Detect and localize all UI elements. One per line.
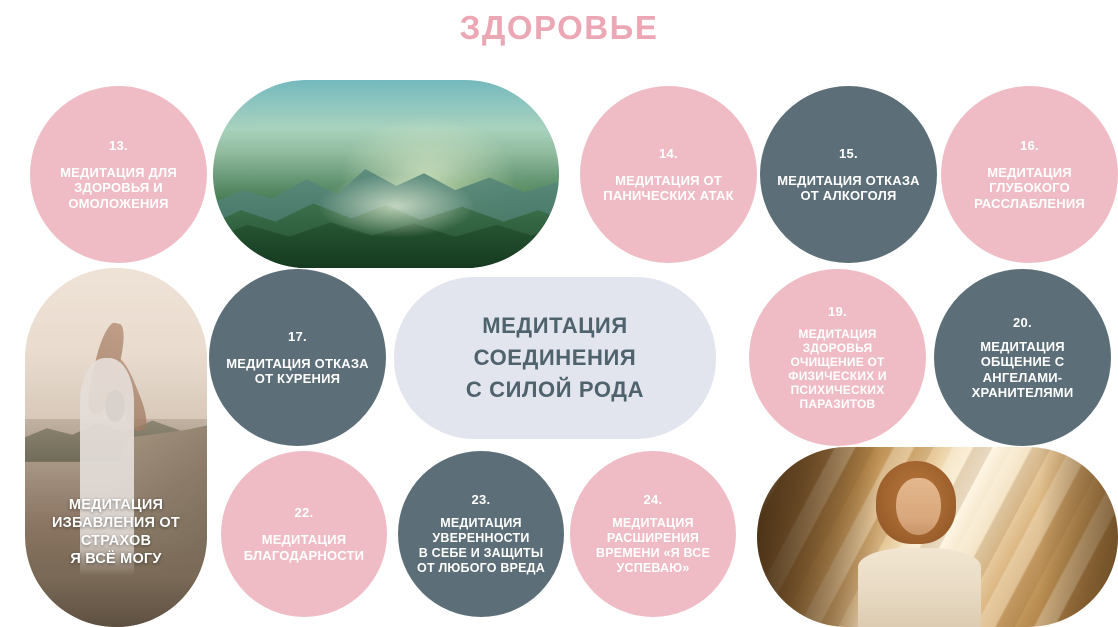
bubble-22-label: МЕДИТАЦИЯ БЛАГОДАРНОСТИ <box>240 532 368 563</box>
bubble-19-label: МЕДИТАЦИЯ ЗДОРОВЬЯ ОЧИЩЕНИЕ ОТ ФИЗИЧЕСКИ… <box>784 327 890 411</box>
bubble-20-label: МЕДИТАЦИЯ ОБЩЕНИЕ С АНГЕЛАМИ- ХРАНИТЕЛЯМ… <box>968 339 1078 401</box>
bubble-23-number: 23. <box>472 492 491 507</box>
woman-blouse <box>858 548 981 627</box>
bubble-13-label: МЕДИТАЦИЯ ДЛЯ ЗДОРОВЬЯ И ОМОЛОЖЕНИЯ <box>56 165 181 212</box>
bubble-16[interactable]: 16. МЕДИТАЦИЯ ГЛУБОКОГО РАССЛАБЛЕНИЯ <box>941 86 1118 263</box>
bubble-23[interactable]: 23. МЕДИТАЦИЯ УВЕРЕННОСТИ В СЕБЕ И ЗАЩИТ… <box>398 451 564 617</box>
bubble-23-label: МЕДИТАЦИЯ УВЕРЕННОСТИ В СЕБЕ И ЗАЩИТЫ ОТ… <box>413 516 549 576</box>
bubble-15-number: 15. <box>839 146 858 161</box>
bubble-19[interactable]: 19. МЕДИТАЦИЯ ЗДОРОВЬЯ ОЧИЩЕНИЕ ОТ ФИЗИЧ… <box>749 269 926 446</box>
bubble-20-number: 20. <box>1013 315 1032 330</box>
bubble-14-label: МЕДИТАЦИЯ ОТ ПАНИЧЕСКИХ АТАК <box>599 173 737 204</box>
slide-canvas: ЗДОРОВЬЕ 13. МЕДИТАЦИЯ ДЛЯ ЗДОРОВЬЯ И ОМ… <box>0 0 1118 627</box>
page-title: ЗДОРОВЬЕ <box>0 8 1118 48</box>
bubble-14[interactable]: 14. МЕДИТАЦИЯ ОТ ПАНИЧЕСКИХ АТАК <box>580 86 757 263</box>
bubble-24-label: МЕДИТАЦИЯ РАСШИРЕНИЯ ВРЕМЕНИ «Я ВСЕ УСПЕ… <box>592 516 714 576</box>
meditating-woman-sunlight-photo <box>757 447 1118 627</box>
valley-haze <box>317 174 476 238</box>
bubble-22[interactable]: 22. МЕДИТАЦИЯ БЛАГОДАРНОСТИ <box>221 451 387 617</box>
bubble-13-number: 13. <box>109 138 128 153</box>
center-feature-card[interactable]: МЕДИТАЦИЯ СОЕДИНЕНИЯ С СИЛОЙ РОДА <box>394 277 716 439</box>
bubble-17-number: 17. <box>288 329 307 344</box>
bubble-16-number: 16. <box>1020 138 1039 153</box>
bubble-15[interactable]: 15. МЕДИТАЦИЯ ОТКАЗА ОТ АЛКОГОЛЯ <box>760 86 937 263</box>
bubble-17[interactable]: 17. МЕДИТАЦИЯ ОТКАЗА ОТ КУРЕНИЯ <box>209 269 386 446</box>
yoga-photo-overlay-label: МЕДИТАЦИЯ ИЗБАВЛЕНИЯ ОТ СТРАХОВ Я ВСЁ МО… <box>25 496 207 568</box>
bubble-14-number: 14. <box>659 146 678 161</box>
right-shadow-gradient <box>1039 447 1118 627</box>
bubble-22-number: 22. <box>295 505 314 520</box>
bubble-17-label: МЕДИТАЦИЯ ОТКАЗА ОТ КУРЕНИЯ <box>222 356 373 387</box>
yoga-woman-sunset-photo: МЕДИТАЦИЯ ИЗБАВЛЕНИЯ ОТ СТРАХОВ Я ВСЁ МО… <box>25 268 207 627</box>
bubble-16-label: МЕДИТАЦИЯ ГЛУБОКОГО РАССЛАБЛЕНИЯ <box>970 165 1089 212</box>
woman-face <box>896 478 941 536</box>
bubble-15-label: МЕДИТАЦИЯ ОТКАЗА ОТ АЛКОГОЛЯ <box>773 173 924 204</box>
bubble-19-number: 19. <box>828 304 847 319</box>
bubble-24-number: 24. <box>644 492 663 507</box>
mountain-landscape-photo <box>213 80 559 268</box>
bubble-20[interactable]: 20. МЕДИТАЦИЯ ОБЩЕНИЕ С АНГЕЛАМИ- ХРАНИТ… <box>934 269 1111 446</box>
bubble-24[interactable]: 24. МЕДИТАЦИЯ РАСШИРЕНИЯ ВРЕМЕНИ «Я ВСЕ … <box>570 451 736 617</box>
center-card-label: МЕДИТАЦИЯ СОЕДИНЕНИЯ С СИЛОЙ РОДА <box>466 310 644 406</box>
bubble-13[interactable]: 13. МЕДИТАЦИЯ ДЛЯ ЗДОРОВЬЯ И ОМОЛОЖЕНИЯ <box>30 86 207 263</box>
